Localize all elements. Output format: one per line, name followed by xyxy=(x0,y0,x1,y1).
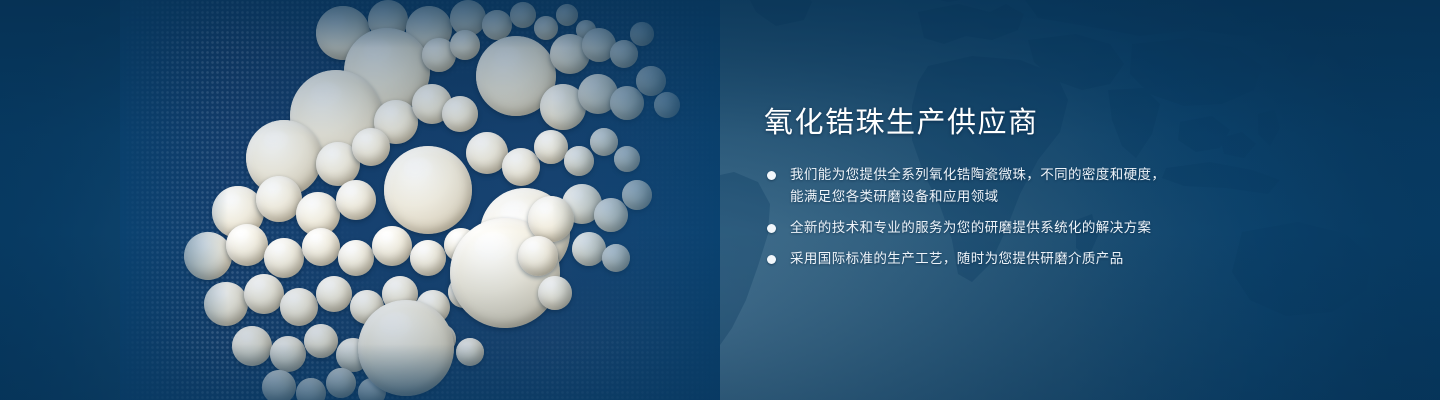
bullet-item-1-line-1: 我们能为您提供全系列氧化锆陶瓷微珠，不同的密度和硬度， xyxy=(790,164,1302,186)
banner-bullet-list: 我们能为您提供全系列氧化锆陶瓷微珠，不同的密度和硬度， 能满足您各类研磨设备和应… xyxy=(762,164,1302,270)
bullet-item-3: 采用国际标准的生产工艺，随时为您提供研磨介质产品 xyxy=(762,248,1302,270)
bullet-dot-icon xyxy=(767,171,776,180)
bullet-item-2: 全新的技术和专业的服务为您的研磨提供系统化的解决方案 xyxy=(762,217,1302,239)
banner-headline: 氧化锆珠生产供应商 xyxy=(764,104,1302,140)
bullet-dot-icon xyxy=(767,255,776,264)
bullet-item-1: 我们能为您提供全系列氧化锆陶瓷微珠，不同的密度和硬度， 能满足您各类研磨设备和应… xyxy=(762,164,1302,208)
bullet-item-3-line-1: 采用国际标准的生产工艺，随时为您提供研磨介质产品 xyxy=(790,248,1302,270)
bullet-item-1-line-2: 能满足您各类研磨设备和应用领域 xyxy=(790,186,1302,208)
bullet-dot-icon xyxy=(767,224,776,233)
banner-text-column: 氧化锆珠生产供应商 我们能为您提供全系列氧化锆陶瓷微珠，不同的密度和硬度， 能满… xyxy=(762,104,1302,270)
hero-banner: 氧化锆珠生产供应商 我们能为您提供全系列氧化锆陶瓷微珠，不同的密度和硬度， 能满… xyxy=(0,0,1440,400)
bullet-item-2-line-1: 全新的技术和专业的服务为您的研磨提供系统化的解决方案 xyxy=(790,217,1302,239)
